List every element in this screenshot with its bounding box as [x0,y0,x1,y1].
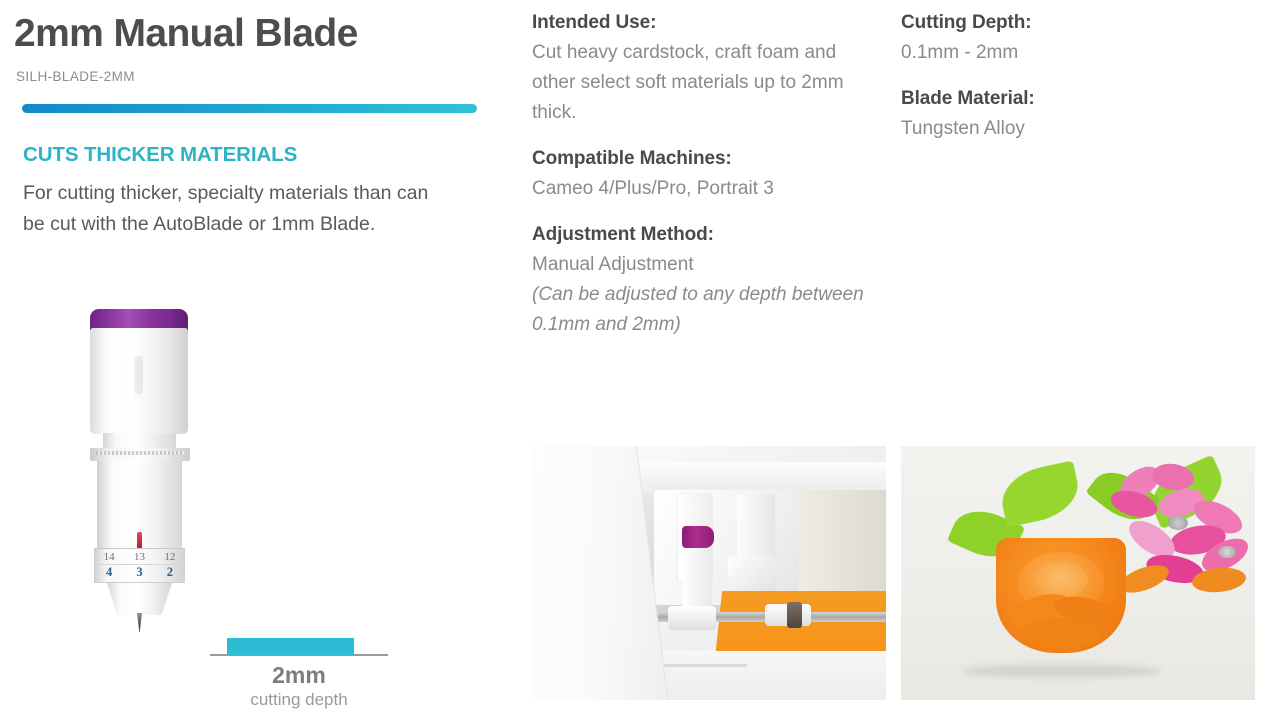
rose-petal [1022,618,1102,648]
dial-bottom-number: 4 [106,565,112,580]
spec-value: Manual Adjustment [532,250,882,280]
depth-value-label: 2mm [210,662,388,689]
carriage-clamp [728,556,776,594]
accent-divider-bar [22,104,477,113]
dial-top-number: 13 [134,551,145,563]
spec-compatible-machines: Compatible Machines: Cameo 4/Plus/Pro, P… [532,144,882,204]
depth-block-swatch [227,638,354,655]
product-overview-column: 2mm Manual Blade SILH-BLADE-2MM CUTS THI… [14,0,514,726]
product-sku: SILH-BLADE-2MM [16,69,135,84]
feature-description: For cutting thicker, specialty materials… [23,178,453,240]
spec-note: (Can be adjusted to any depth between 0.… [532,280,882,340]
dial-bottom-number: 2 [167,565,173,580]
spec-cutting-depth: Cutting Depth: 0.1mm - 2mm [901,8,1251,68]
dial-top-number: 12 [164,551,175,563]
spec-label: Cutting Depth: [901,8,1251,38]
flower-center [1168,516,1188,530]
installed-blade-body [682,545,712,607]
blade-taper [107,583,172,615]
installed-blade-cap-icon [682,526,714,548]
spec-adjustment-method: Adjustment Method: Manual Adjustment (Ca… [532,220,882,340]
dial-bottom-number: 3 [136,565,142,580]
dial-top-number: 14 [104,551,115,563]
machine-bed-line [657,664,747,667]
blade-dial-pointer-icon [137,532,142,549]
spec-label: Intended Use: [532,8,882,38]
rose-shadow [961,664,1161,678]
spec-column-three: Cutting Depth: 0.1mm - 2mm Blade Materia… [901,8,1251,160]
machine-bed [640,651,886,700]
spec-value: Tungsten Alloy [901,114,1251,144]
craft-foam-flowers-photo [901,446,1255,700]
flower-center [1218,546,1236,558]
spec-label: Adjustment Method: [532,220,882,250]
blade-barrel [90,328,188,434]
blade-illustration: 14 13 12 4 3 2 [74,300,274,660]
blade-flange [90,448,190,461]
cutting-depth-indicator: 2mm cutting depth [210,622,390,712]
spec-label: Compatible Machines: [532,144,882,174]
dial-top-row: 14 13 12 [94,551,185,563]
blade-tip-icon [137,613,142,632]
machine-carriage [654,490,799,605]
leaf-icon [996,460,1083,527]
pinch-roller-hub [787,602,802,628]
spec-value: Cameo 4/Plus/Pro, Portrait 3 [532,174,882,204]
feature-heading: CUTS THICKER MATERIALS [23,143,297,167]
spec-label: Blade Material: [901,84,1251,114]
flower-petal [1108,486,1161,522]
spec-intended-use: Intended Use: Cut heavy cardstock, craft… [532,8,882,128]
page-title: 2mm Manual Blade [14,14,358,55]
spec-value: 0.1mm - 2mm [901,38,1251,68]
spec-column-two: Intended Use: Cut heavy cardstock, craft… [532,8,882,356]
machine-with-blade-photo [532,446,886,700]
spec-blade-material: Blade Material: Tungsten Alloy [901,84,1251,144]
rose-center [1034,562,1088,598]
pinch-roller-left [668,606,716,630]
blade-depth-dial: 14 13 12 4 3 2 [94,548,185,583]
dial-bottom-row: 4 3 2 [94,565,185,580]
depth-caption-label: cutting depth [210,690,388,710]
orange-foam-rose [996,538,1126,653]
spec-value: Cut heavy cardstock, craft foam and othe… [532,38,882,128]
